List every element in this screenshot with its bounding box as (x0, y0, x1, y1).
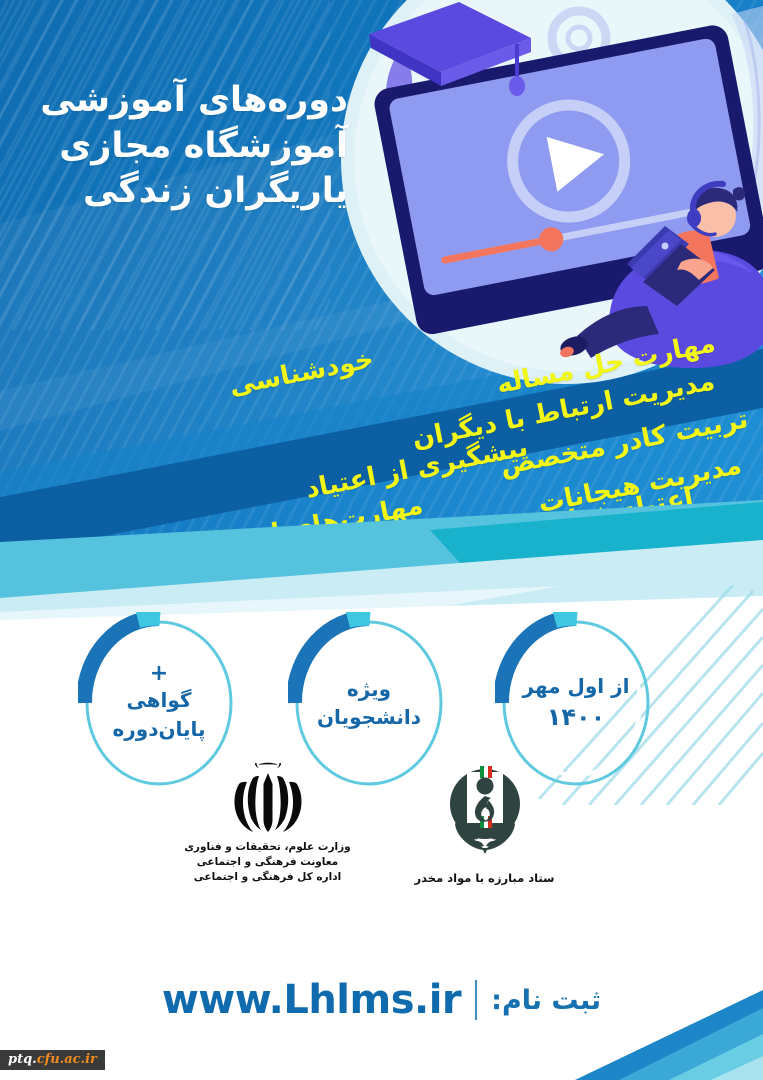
ministry-logo-caption: وزارت علوم، تحقیقات و فناوری معاونت فرهن… (175, 840, 360, 886)
badge-line-2: دانشجویان (317, 703, 421, 731)
badge-line-2: ۱۴۰۰ (547, 700, 606, 734)
course-item-self-awareness: خودشناسی (227, 344, 376, 401)
source-watermark: ptq.cfu.ac.ir (0, 1050, 105, 1070)
logo-ministry-of-science: وزارت علوم، تحقیقات و فناوری معاونت فرهن… (175, 762, 360, 886)
iran-emblem-icon (222, 762, 314, 836)
badge-line-1: ویژه (347, 675, 391, 703)
footer-registration: ثبت نام: www.Lhlms.ir (0, 965, 763, 1035)
watermark-prefix: ptq. (8, 1052, 37, 1067)
poster-title: دوره‌های آموزشی آموزشگاه مجازی یاریگران … (18, 78, 348, 215)
anti-narcotics-line-1: ستاد مبارزه با مواد مخدر (392, 870, 577, 887)
poster-root: دوره‌های آموزشی آموزشگاه مجازی یاریگران … (0, 0, 763, 1080)
badge-line-1: از اول مهر (523, 672, 630, 700)
badge-plus-sign: + (150, 663, 168, 685)
anti-narcotics-logo-caption: ستاد مبارزه با مواد مخدر (392, 870, 577, 887)
ministry-line-3: اداره کل فرهنگی و اجتماعی (175, 870, 360, 885)
title-line-3: یاریگران زندگی (18, 169, 348, 215)
anti-narcotics-emblem-icon (436, 764, 534, 862)
website-url[interactable]: www.Lhlms.ir (162, 977, 461, 1023)
organisation-logos: وزارت علوم، تحقیقات و فناوری معاونت فرهن… (0, 762, 763, 942)
ministry-line-1: وزارت علوم، تحقیقات و فناوری (175, 840, 360, 855)
ministry-line-2: معاونت فرهنگی و اجتماعی (175, 855, 360, 870)
footer-divider (475, 980, 477, 1020)
title-line-2: آموزشگاه مجازی (18, 124, 348, 170)
title-line-1: دوره‌های آموزشی (18, 78, 348, 124)
badge-line-1: گواهی (126, 686, 191, 714)
badge-line-2: پایان‌دوره (112, 715, 205, 743)
logo-anti-narcotics-hq: ستاد مبارزه با مواد مخدر (392, 764, 577, 887)
watermark-suffix: cfu.ac.ir (37, 1052, 97, 1067)
registration-label: ثبت نام: (491, 985, 601, 1016)
